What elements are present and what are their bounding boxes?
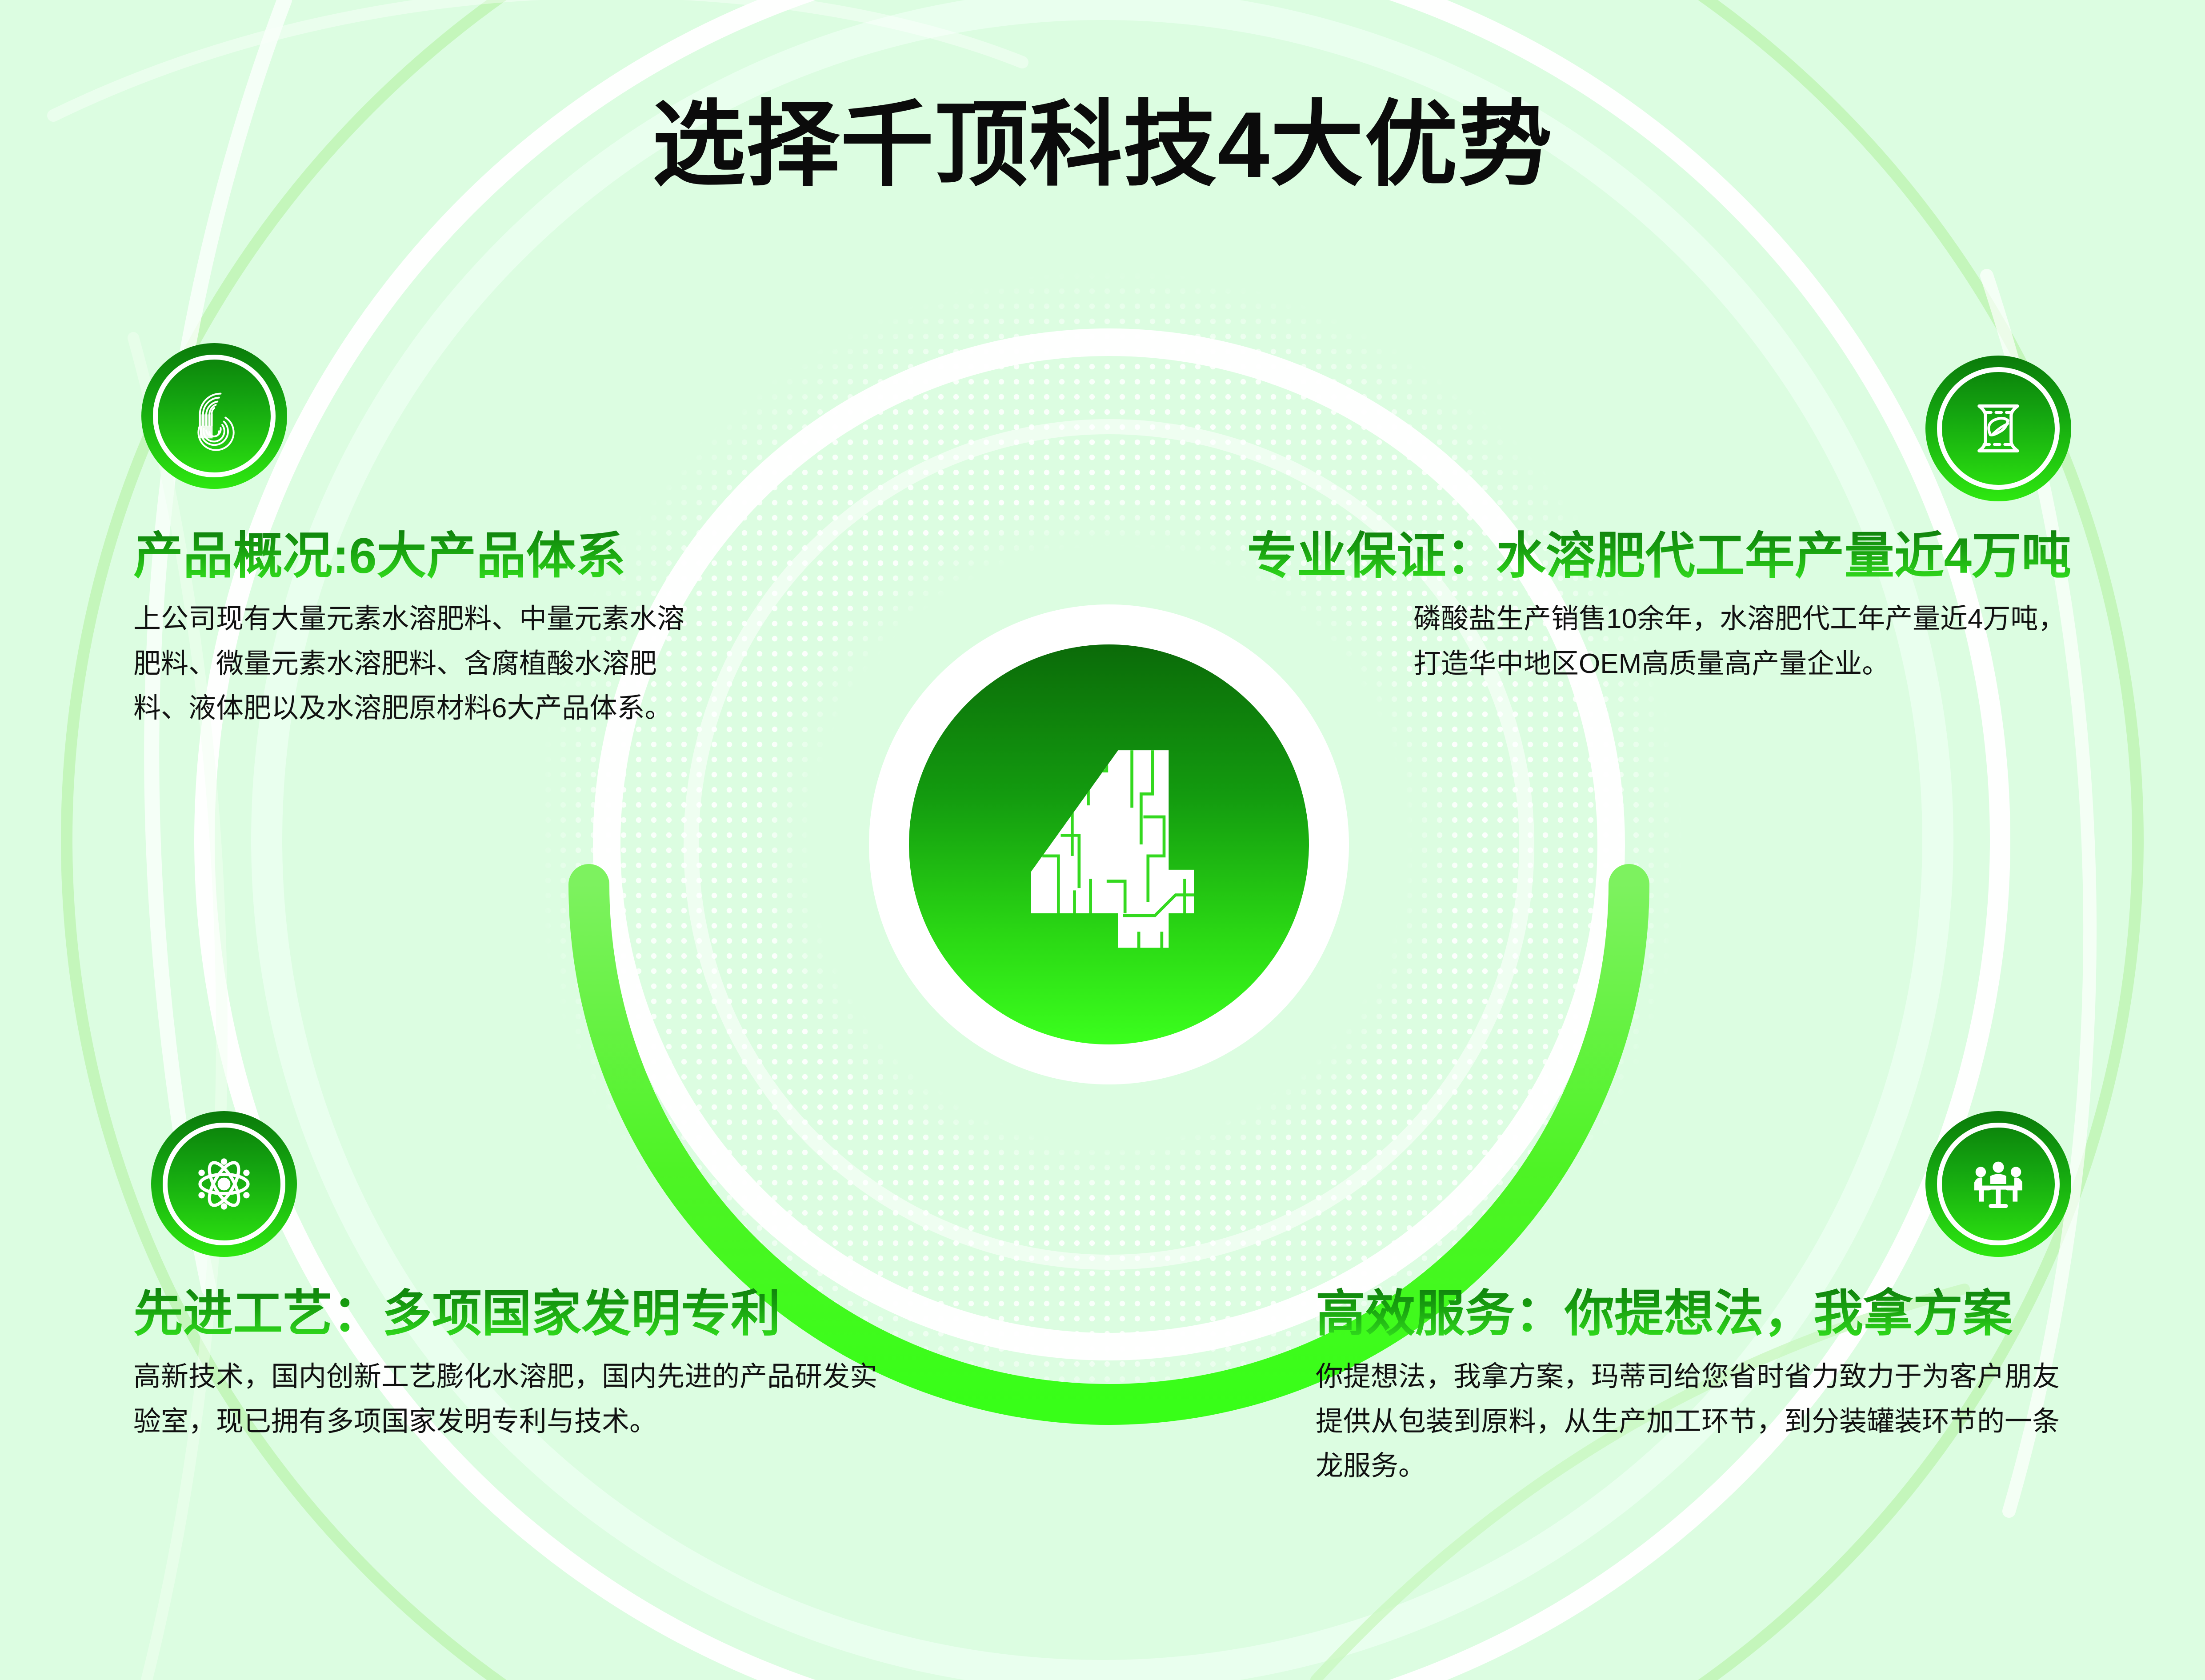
number-four-tech-icon xyxy=(971,707,1247,982)
atom-icon xyxy=(184,1144,264,1224)
advantage-headline: 产品概况:6大产品体系 xyxy=(133,527,711,585)
advantage-block-bottom-left: 先进工艺：多项国家发明专利 高新技术，国内创新工艺膨化水溶肥，国内先进的产品研发… xyxy=(133,1284,889,1444)
badge-professional-guarantee[interactable] xyxy=(1925,356,2071,501)
advantage-block-bottom-right: 高效服务：你提想法，我拿方案 你提想法，我拿方案，玛蒂司给您省时省力致力于为客户… xyxy=(1316,1284,2071,1488)
fertilizer-bag-icon xyxy=(1958,388,2038,468)
advantage-body: 上公司现有大量元素水溶肥料、中量元素水溶肥料、微量元素水溶肥料、含腐植酸水溶肥料… xyxy=(133,597,711,731)
center-disc xyxy=(909,644,1309,1044)
advantage-body: 你提想法，我拿方案，玛蒂司给您省时省力致力于为客户朋友提供从包装到原料，从生产加… xyxy=(1316,1355,2071,1488)
number-six-icon xyxy=(174,376,254,456)
badge-efficient-service[interactable] xyxy=(1925,1111,2071,1257)
advantage-headline: 高效服务：你提想法，我拿方案 xyxy=(1316,1284,2071,1343)
meeting-people-icon xyxy=(1958,1144,2038,1224)
advantage-headline: 先进工艺：多项国家发明专利 xyxy=(133,1284,889,1343)
advantage-block-top-right: 专业保证：水溶肥代工年产量近4万吨 磷酸盐生产销售10余年，水溶肥代工年产量近4… xyxy=(1200,527,2071,686)
infographic-stage: 选择千顶科技4大优势 xyxy=(0,0,2205,1680)
advantage-headline: 专业保证：水溶肥代工年产量近4万吨 xyxy=(1200,527,2071,585)
page-title: 选择千顶科技4大优势 xyxy=(0,93,2205,196)
badge-advanced-process[interactable] xyxy=(151,1111,297,1257)
badge-product-overview[interactable] xyxy=(141,343,287,489)
advantage-block-top-left: 产品概况:6大产品体系 上公司现有大量元素水溶肥料、中量元素水溶肥料、微量元素水… xyxy=(133,527,711,731)
advantage-body: 高新技术，国内创新工艺膨化水溶肥，国内先进的产品研发实验室，现已拥有多项国家发明… xyxy=(133,1355,889,1444)
advantage-body: 磷酸盐生产销售10余年，水溶肥代工年产量近4万吨，打造华中地区OEM高质量高产量… xyxy=(1413,597,2071,686)
